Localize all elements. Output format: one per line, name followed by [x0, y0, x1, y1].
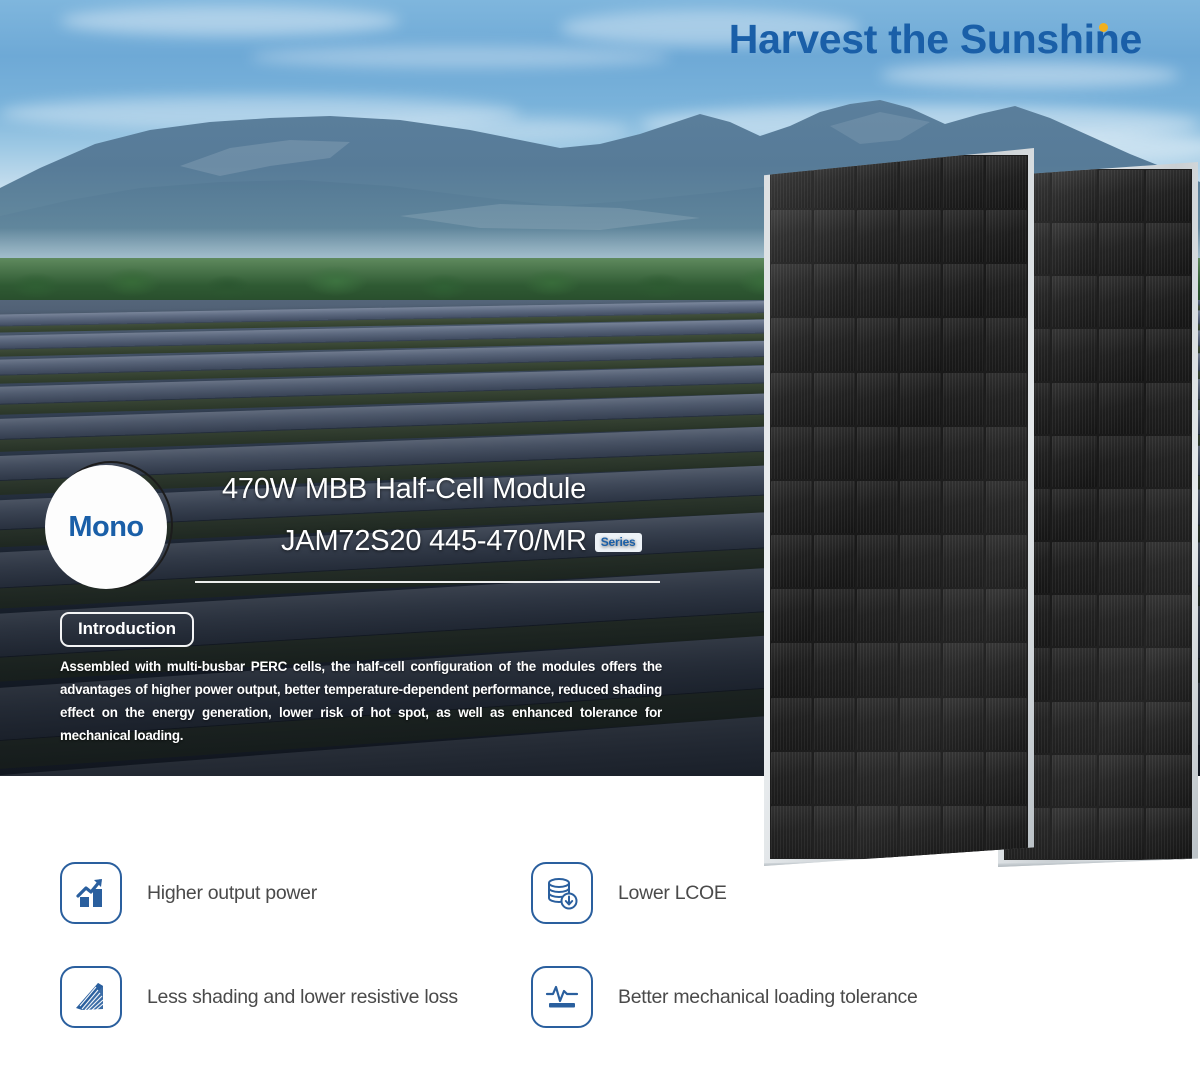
- mono-badge: Mono: [45, 461, 173, 591]
- feature-item: Better mechanical loading tolerance: [531, 966, 918, 1028]
- mono-badge-circle: Mono: [45, 465, 167, 589]
- introduction-section-label: Introduction: [60, 612, 194, 647]
- title-divider: [195, 581, 660, 583]
- feature-item: Higher output power: [60, 862, 317, 924]
- product-info-block: Mono 470W MBB Half-Cell Module JAM72S20 …: [0, 455, 720, 775]
- product-photo-solar-panels: [716, 140, 1200, 888]
- product-model-text: JAM72S20 445-470/MR: [281, 525, 587, 558]
- feature-label: Better mechanical loading tolerance: [618, 986, 918, 1009]
- introduction-paragraph: Assembled with multi-busbar PERC cells, …: [60, 655, 662, 747]
- coin-stack-down-arrow-icon: [531, 862, 593, 924]
- feature-label: Higher output power: [147, 882, 317, 905]
- shading-panel-icon: [60, 966, 122, 1028]
- product-title-line1: 470W MBB Half-Cell Module: [222, 473, 586, 506]
- mono-badge-label: Mono: [68, 511, 143, 544]
- solar-panel-cell-grid: [770, 155, 1028, 859]
- page-title: Harvest the Sunshine: [729, 16, 1142, 63]
- cloud: [60, 6, 400, 36]
- feature-label: Less shading and lower resistive loss: [147, 986, 458, 1009]
- cloud: [880, 62, 1180, 88]
- cloud: [250, 46, 670, 68]
- bar-chart-up-icon: [60, 862, 122, 924]
- sun-dot-icon: [1099, 23, 1108, 32]
- product-title-line2: JAM72S20 445-470/MR Series: [281, 525, 642, 558]
- feature-list: Higher output power Lower LCOE: [0, 848, 1200, 1067]
- pulse-wave-icon: [531, 966, 593, 1028]
- feature-item: Less shading and lower resistive loss: [60, 966, 458, 1028]
- headline-text: Harvest the Sunshine: [729, 16, 1142, 62]
- feature-label: Lower LCOE: [618, 882, 727, 905]
- series-badge: Series: [595, 533, 642, 552]
- feature-item: Lower LCOE: [531, 862, 727, 924]
- solar-panel-front: [764, 148, 1034, 866]
- datasheet-page: Harvest the Sunshine Mono 470W MBB Half-…: [0, 0, 1200, 1067]
